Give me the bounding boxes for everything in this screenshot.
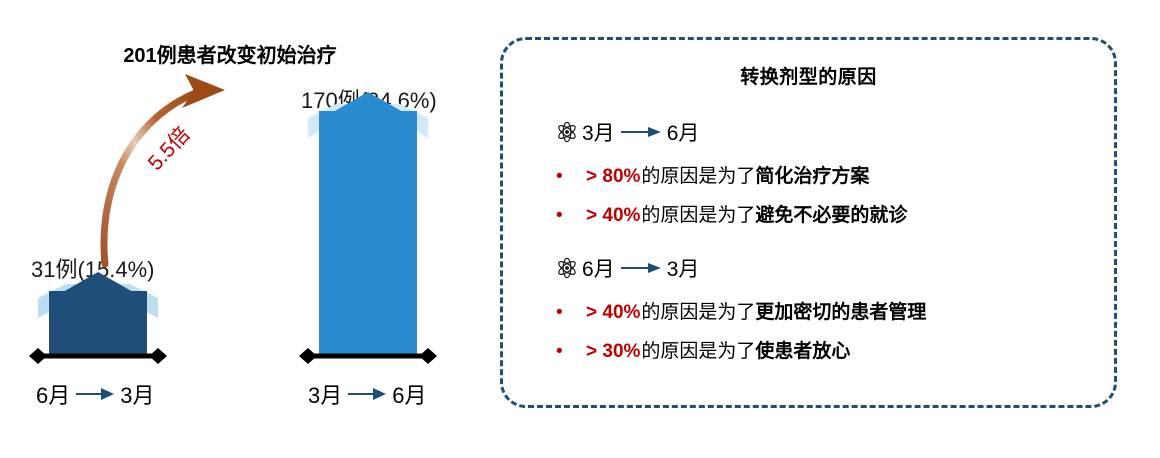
bullet-percent: > 40%: [586, 302, 640, 324]
arrow-right-icon: [347, 387, 387, 401]
reasons-panel-title: 转换剂型的原因: [503, 62, 1114, 89]
reason-group-2-heading: 6月 3月: [556, 253, 1114, 283]
reason-group-1-to: 6月: [667, 117, 700, 147]
atom-icon: [556, 257, 578, 279]
bar-chart-panel: 201例患者改变初始治疗 31例(15.4%) 170例(84.6%): [0, 0, 480, 458]
arrow-right-icon: [620, 261, 662, 275]
bullet-dot-icon: •: [556, 342, 586, 361]
reason-group-1-from: 3月: [582, 117, 615, 147]
bullet-dot-icon: •: [556, 167, 586, 186]
arrow-right-icon: [620, 125, 662, 139]
bullet-percent: > 40%: [586, 205, 640, 227]
bullet-middle-text: 的原因是为了: [641, 200, 755, 227]
reason-group-2: 6月 3月 • > 40% 的原因是为了 更加密切的患者管理 • > 30% 的…: [503, 253, 1114, 363]
reasons-panel: 转换剂型的原因 3月 6月 • > 80% 的原因是为了: [500, 37, 1117, 408]
bullet-middle-text: 的原因是为了: [641, 161, 755, 188]
bullet-dot-icon: •: [556, 303, 586, 322]
axis-label-right-from: 3月: [308, 378, 342, 410]
reason-group-1: 3月 6月 • > 80% 的原因是为了 简化治疗方案 • > 40% 的原因是…: [503, 117, 1114, 227]
bullet-middle-text: 的原因是为了: [641, 297, 755, 324]
reason-group-1-list: • > 80% 的原因是为了 简化治疗方案 • > 40% 的原因是为了 避免不…: [556, 161, 1114, 227]
bullet-percent: > 80%: [586, 166, 640, 188]
reason-group-2-from: 6月: [582, 253, 615, 283]
axis-label-right-to: 6月: [392, 378, 426, 410]
list-item: • > 80% 的原因是为了 简化治疗方案: [556, 161, 1114, 188]
atom-icon: [556, 121, 578, 143]
bullet-emphasis-text: 更加密切的患者管理: [755, 297, 926, 324]
bullet-emphasis-text: 使患者放心: [755, 336, 850, 363]
bar-body-right: [319, 111, 417, 354]
list-item: • > 40% 的原因是为了 避免不必要的就诊: [556, 200, 1114, 227]
chart-title: 201例患者改变初始治疗: [0, 39, 460, 68]
bullet-emphasis-text: 简化治疗方案: [755, 161, 869, 188]
bullet-middle-text: 的原因是为了: [641, 336, 755, 363]
bullet-percent: > 30%: [586, 341, 640, 363]
reason-group-2-to: 3月: [667, 253, 700, 283]
baseline-left: [28, 348, 168, 364]
growth-curved-arrow-icon: [90, 72, 300, 272]
axis-label-left-to: 3月: [120, 378, 154, 410]
bullet-dot-icon: •: [556, 206, 586, 225]
axis-label-left-from: 6月: [36, 378, 70, 410]
axis-label-right: 3月 6月: [308, 378, 427, 410]
growth-multiplier-label: 5.5倍: [140, 119, 196, 176]
reason-group-2-list: • > 40% 的原因是为了 更加密切的患者管理 • > 30% 的原因是为了 …: [556, 297, 1114, 363]
baseline-right: [298, 348, 438, 364]
reason-group-1-heading: 3月 6月: [556, 117, 1114, 147]
arrow-right-icon: [75, 387, 115, 401]
list-item: • > 40% 的原因是为了 更加密切的患者管理: [556, 297, 1114, 324]
axis-label-left: 6月 3月: [36, 378, 155, 410]
bullet-emphasis-text: 避免不必要的就诊: [755, 200, 907, 227]
list-item: • > 30% 的原因是为了 使患者放心: [556, 336, 1114, 363]
bar-body-left: [49, 291, 147, 354]
